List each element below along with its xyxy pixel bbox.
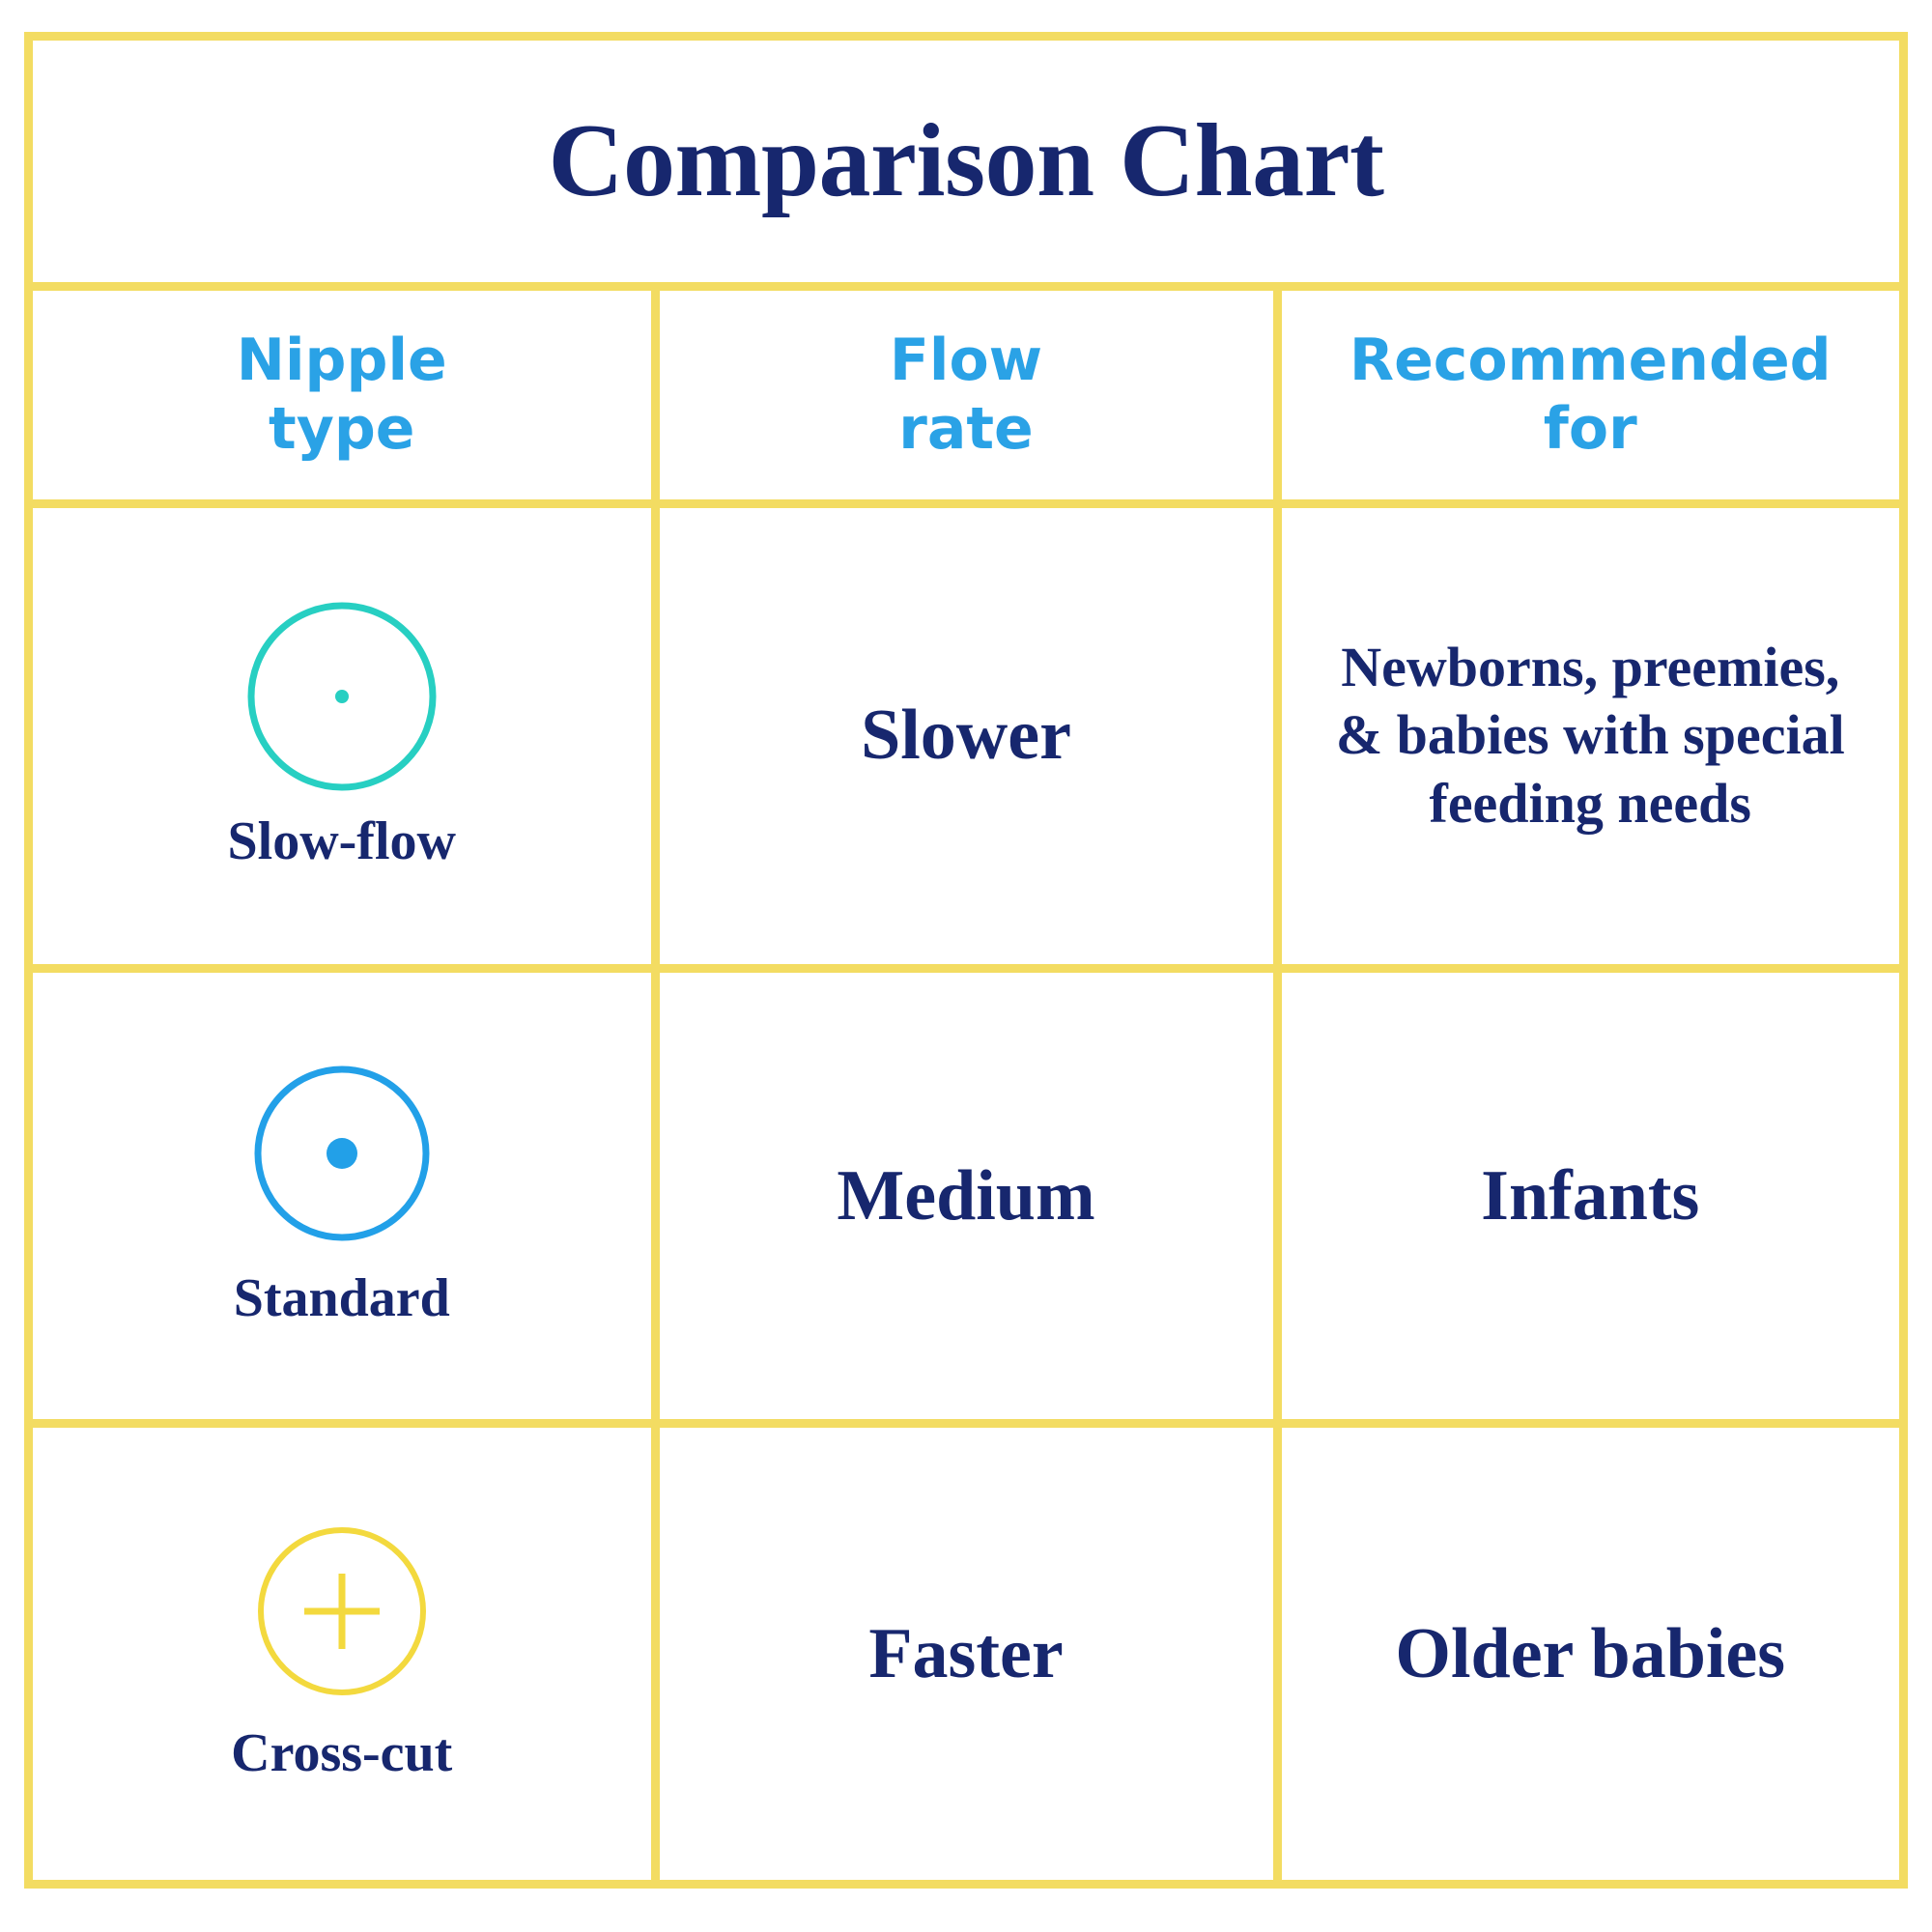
recommended-for-value: Newborns, preemies, & babies with specia… (1282, 634, 1900, 838)
circle-with-cross-cut-icon (254, 1523, 430, 1699)
column-header-recommended-for: Recommended for (1282, 327, 1900, 464)
circle-with-small-center-hole-icon (245, 600, 439, 793)
type-cell-standard: Standard (33, 1063, 651, 1329)
flow-rate-value: Slower (660, 696, 1273, 775)
header-line-1: Nipple (33, 327, 651, 395)
flow-rate-value: Faster (660, 1615, 1273, 1693)
type-cell-cross-cut: Cross-cut (33, 1523, 651, 1784)
flow-rate-value: Medium (660, 1157, 1273, 1236)
cell-nipple-type-cross-cut: Cross-cut (33, 1424, 655, 1880)
nipple-type-label: Cross-cut (231, 1724, 452, 1784)
recommended-line-3: feeding needs (1307, 770, 1875, 838)
header-line-1: Flow (660, 327, 1273, 395)
table-row-cross-cut: Cross-cut Faster Older babies (33, 1424, 1899, 1880)
header-line-1: Recommended (1282, 327, 1900, 395)
recommended-for-value: Infants (1282, 1152, 1900, 1239)
cell-recommended-for-slow-flow: Newborns, preemies, & babies with specia… (1277, 503, 1899, 969)
cell-nipple-type-slow-flow: Slow-flow (33, 503, 655, 969)
nipple-type-label: Slow-flow (228, 812, 456, 872)
header-cell-nipple-type: Nipple type (33, 287, 655, 503)
header-cell-flow-rate: Flow rate (655, 287, 1277, 503)
table-row-standard: Standard Medium Infants (33, 969, 1899, 1424)
column-header-row: Nipple type Flow rate Recommended for (33, 287, 1899, 503)
table-row-slow-flow: Slow-flow Slower Newborns, preemies, & b… (33, 503, 1899, 969)
column-header-nipple-type: Nipple type (33, 327, 651, 464)
title-row: Comparison Chart (33, 41, 1899, 287)
cell-recommended-for-cross-cut: Older babies (1277, 1424, 1899, 1880)
recommended-for-value: Older babies (1282, 1610, 1900, 1697)
cell-recommended-for-standard: Infants (1277, 969, 1899, 1424)
recommended-line-2: & babies with special (1307, 701, 1875, 770)
comparison-chart-frame: Comparison Chart Nipple type Flow rate (24, 32, 1908, 1889)
cell-nipple-type-standard: Standard (33, 969, 655, 1424)
type-cell-slow-flow: Slow-flow (33, 600, 651, 872)
header-line-2: for (1282, 395, 1900, 464)
header-line-2: rate (660, 395, 1273, 464)
column-header-flow-rate: Flow rate (660, 327, 1273, 464)
cell-flow-rate-cross-cut: Faster (655, 1424, 1277, 1880)
comparison-chart-table: Comparison Chart Nipple type Flow rate (33, 41, 1899, 1880)
page-title: Comparison Chart (33, 106, 1899, 215)
cell-flow-rate-standard: Medium (655, 969, 1277, 1424)
circle-with-medium-center-hole-icon (251, 1063, 433, 1244)
header-line-2: type (33, 395, 651, 464)
recommended-line-1: Newborns, preemies, (1307, 634, 1875, 702)
title-cell: Comparison Chart (33, 41, 1899, 287)
header-cell-recommended-for: Recommended for (1277, 287, 1899, 503)
nipple-type-label: Standard (234, 1269, 450, 1329)
cell-flow-rate-slow-flow: Slower (655, 503, 1277, 969)
